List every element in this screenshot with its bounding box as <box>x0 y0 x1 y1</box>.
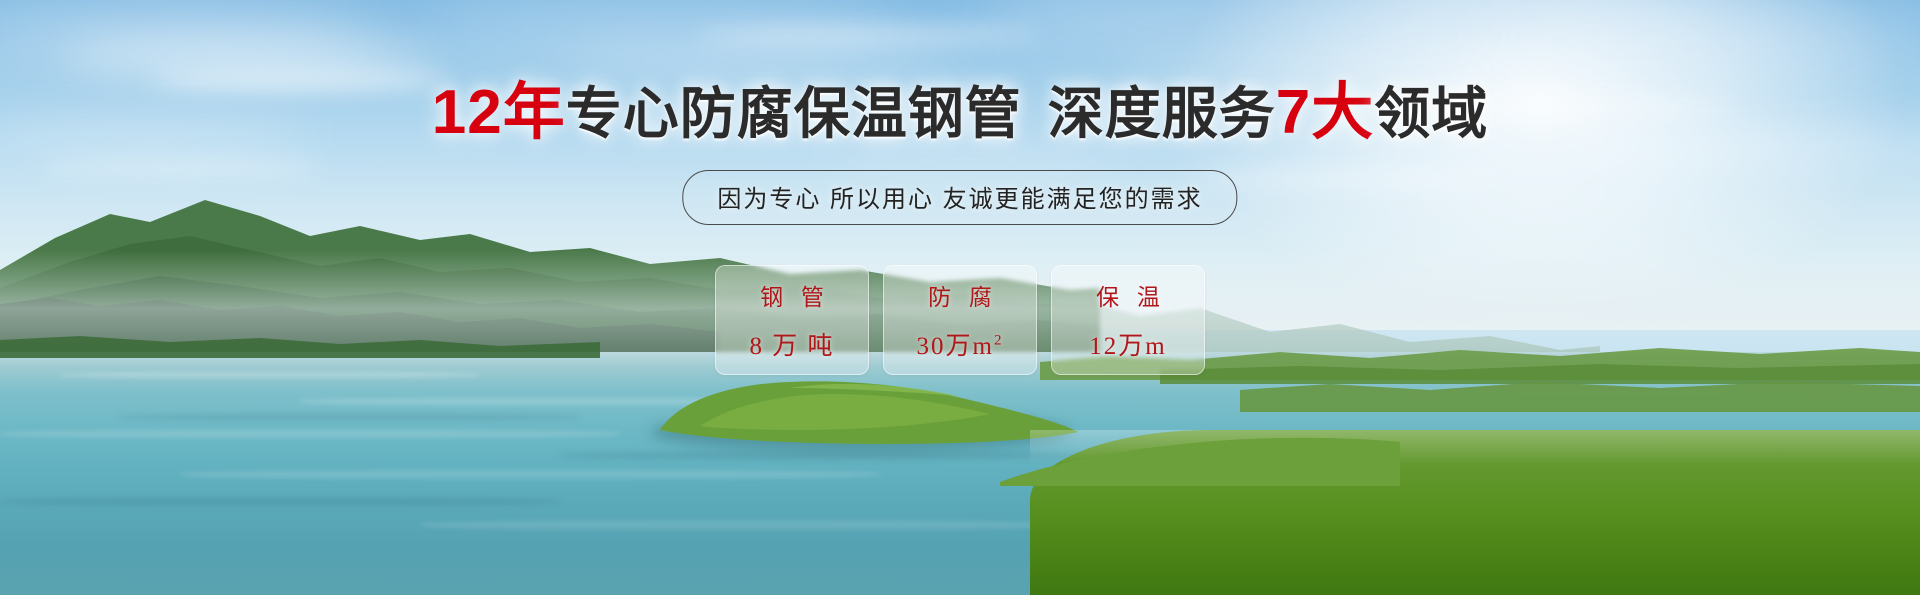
stat-card-value: 8 万 吨 <box>749 326 834 362</box>
stat-cards: 钢 管 8 万 吨 防 腐 30万m2 保 温 12万m <box>715 265 1205 375</box>
subtitle-pill: 因为专心 所以用心 友诚更能满足您的需求 <box>682 170 1237 225</box>
headline-years: 12年 <box>432 78 566 147</box>
stat-card-title: 保 温 <box>1090 278 1166 312</box>
stat-card-value: 12万m <box>1089 326 1166 362</box>
stat-value-text: 30万m <box>917 333 994 360</box>
hero-banner: 12年专心防腐保温钢管深度服务7大领域 因为专心 所以用心 友诚更能满足您的需求… <box>0 0 1920 595</box>
stat-card-anticorrosion[interactable]: 防 腐 30万m2 <box>883 265 1037 375</box>
banner-content: 12年专心防腐保温钢管深度服务7大领域 因为专心 所以用心 友诚更能满足您的需求… <box>0 0 1920 595</box>
headline-service: 深度服务 <box>1048 82 1276 145</box>
stat-card-title: 钢 管 <box>754 278 830 312</box>
headline-main: 专心防腐保温钢管 <box>566 82 1022 145</box>
stat-card-insulation[interactable]: 保 温 12万m <box>1051 265 1205 375</box>
stat-value-text: 8 万 吨 <box>749 333 834 360</box>
headline-fields: 领域 <box>1374 82 1488 145</box>
headline-fields-count: 7大 <box>1276 78 1374 147</box>
stat-value-sup: 2 <box>994 333 1004 349</box>
stat-card-steel-pipe[interactable]: 钢 管 8 万 吨 <box>715 265 869 375</box>
stat-card-value: 30万m2 <box>917 326 1004 362</box>
stat-value-text: 12万m <box>1089 333 1166 360</box>
headline: 12年专心防腐保温钢管深度服务7大领域 <box>0 82 1920 144</box>
stat-card-title: 防 腐 <box>922 278 998 312</box>
